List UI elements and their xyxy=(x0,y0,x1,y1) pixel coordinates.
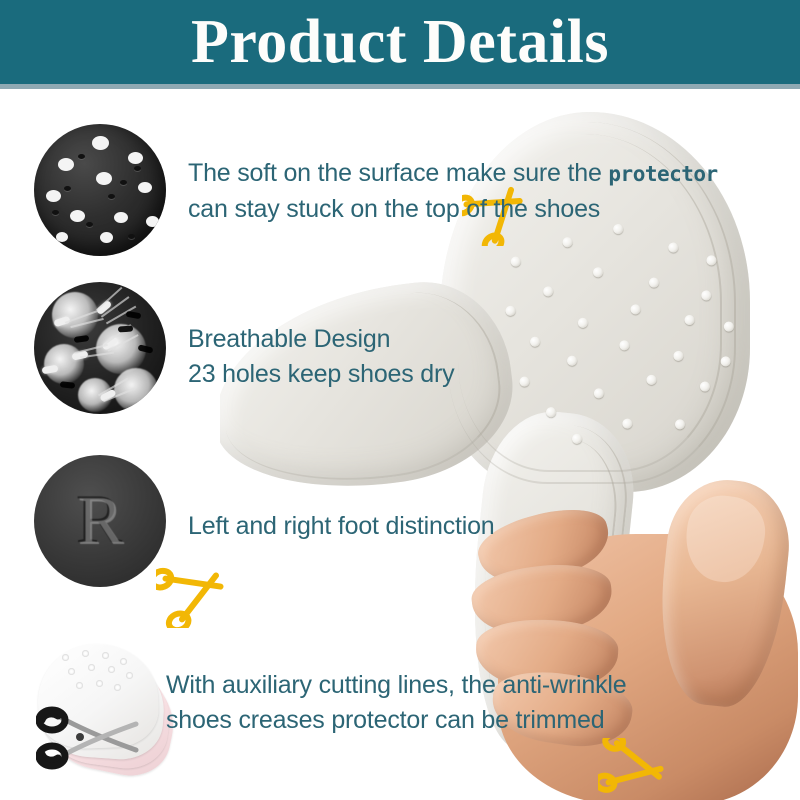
perforation-hole xyxy=(577,317,588,328)
perforation-hole xyxy=(592,267,603,278)
perforation-hole xyxy=(566,355,577,366)
perforation-hole xyxy=(571,433,582,444)
scissors-icon-black xyxy=(36,700,148,774)
vent-slot xyxy=(60,381,76,389)
thumbnail-perforation-hole xyxy=(46,190,61,202)
stack-cut-hole xyxy=(76,682,83,689)
air-puff xyxy=(52,292,98,338)
thumbnail-perforation-hole xyxy=(56,232,68,242)
feature-4-line1: With auxiliary cutting lines, the anti-w… xyxy=(166,668,626,703)
stack-cut-hole xyxy=(82,650,89,657)
embossed-r-disc-thumbnail: R xyxy=(34,455,166,587)
feature-1-line2: can stay stuck on the top of the shoes xyxy=(188,192,718,227)
thumbnail-perforation-hole xyxy=(114,212,128,223)
feature-text-cutting-lines: With auxiliary cutting lines, the anti-w… xyxy=(166,668,626,738)
thumbnail-dimple xyxy=(108,194,115,199)
scissors-marker-middle xyxy=(156,552,236,628)
thumbnail-perforation-hole xyxy=(58,158,74,171)
thumbnail-perforation-hole xyxy=(128,152,143,164)
perforation-hole xyxy=(529,336,540,347)
stack-cut-hole xyxy=(96,680,103,687)
vent-slot xyxy=(126,311,142,320)
thumbnail-dimple xyxy=(52,210,59,215)
perforation-hole xyxy=(701,290,712,301)
air-puff xyxy=(114,368,158,412)
perforation-hole xyxy=(562,237,573,248)
stack-cut-hole xyxy=(126,672,133,679)
vent-slot xyxy=(118,325,133,332)
perforation-hole xyxy=(706,255,717,266)
feature-2-line1: Breathable Design xyxy=(188,322,454,357)
protector-stack-with-scissors-thumbnail xyxy=(28,638,180,778)
stack-cut-hole xyxy=(108,666,115,673)
perforation-hole xyxy=(593,388,604,399)
perforation-hole xyxy=(684,314,695,325)
scissors-marker-bottom xyxy=(598,738,676,800)
feature-3-line1: Left and right foot distinction xyxy=(188,509,495,544)
perforation-hole-grid xyxy=(495,205,757,465)
stack-cut-hole xyxy=(68,668,75,675)
thumbnail-dimple xyxy=(120,180,127,185)
page-title: Product Details xyxy=(0,6,800,78)
perforation-hole xyxy=(519,376,530,387)
perforation-hole xyxy=(505,305,516,316)
perforation-hole xyxy=(720,356,731,367)
feature-text-left-right: Left and right foot distinction xyxy=(188,509,495,544)
stack-cut-hole xyxy=(88,664,95,671)
stack-cut-hole xyxy=(102,652,109,659)
perforation-hole xyxy=(622,418,633,429)
feature-text-soft-surface: The soft on the surface make sure the pr… xyxy=(188,156,718,227)
thumbnail-perforation-hole xyxy=(96,172,112,185)
perforation-hole xyxy=(545,407,556,418)
feature-1-line1-b: protector xyxy=(608,162,717,186)
perforation-hole xyxy=(699,381,710,392)
perforation-hole xyxy=(723,321,734,332)
thumbnail-perforation-hole xyxy=(92,136,109,150)
thumbnail-perforation-hole xyxy=(146,216,159,227)
perforated-dark-disc-thumbnail xyxy=(34,124,166,256)
perforation-hole xyxy=(646,374,657,385)
header-underline xyxy=(0,84,800,89)
perforation-hole xyxy=(510,256,521,267)
thumbnail-dimple xyxy=(134,166,141,171)
thumbnail-perforation-hole xyxy=(138,182,152,193)
thumbnail-dimple xyxy=(86,222,93,227)
feature-text-breathable: Breathable Design 23 holes keep shoes dr… xyxy=(188,322,454,392)
perforation-hole xyxy=(668,242,679,253)
feature-4-line2: shoes creases protector can be trimmed xyxy=(166,703,626,738)
perforation-hole xyxy=(630,304,641,315)
thumbnail-perforation-hole xyxy=(100,232,113,243)
perforation-hole xyxy=(648,277,659,288)
thumbnail-dimple xyxy=(64,186,71,191)
feature-2-line2: 23 holes keep shoes dry xyxy=(188,357,454,392)
perforation-hole xyxy=(674,419,685,430)
thumbnail-dimple xyxy=(78,154,85,159)
thumbnail-perforation-hole xyxy=(70,210,85,222)
vent-slot xyxy=(74,335,90,343)
stack-cut-hole xyxy=(114,684,121,691)
stack-cut-hole xyxy=(62,654,69,661)
perforation-hole xyxy=(543,286,554,297)
thumbnail-dimple xyxy=(128,234,135,239)
perforation-hole xyxy=(619,340,630,351)
product-details-page: Product Details R xyxy=(0,0,800,800)
stack-cut-hole xyxy=(120,658,127,665)
perforation-hole xyxy=(673,350,684,361)
air-flow-puffs-thumbnail xyxy=(34,282,166,414)
emboss-letter-r: R xyxy=(34,455,166,587)
feature-1-line1-a: The soft on the surface make sure the xyxy=(188,159,608,187)
